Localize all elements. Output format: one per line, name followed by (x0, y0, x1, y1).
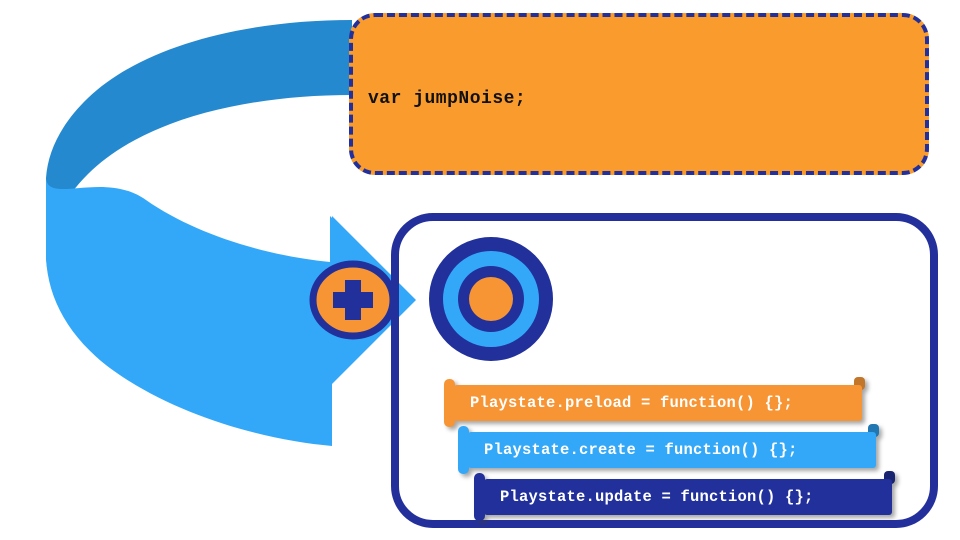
code-banner-update[interactable]: Playstate.update = function() {}; (474, 479, 892, 515)
concentric-target-icon[interactable] (429, 237, 553, 361)
banner-roll-left (474, 473, 485, 521)
plus-badge-icon[interactable] (313, 264, 393, 336)
banner-code-text: Playstate.preload = function() {}; (470, 394, 793, 412)
code-banner-preload[interactable]: Playstate.preload = function() {}; (444, 385, 862, 421)
diagram-canvas: var jumpNoise; Playstate.preload = funct… (0, 0, 960, 540)
banner-code-text: Playstate.create = function() {}; (484, 441, 798, 459)
banner-roll-left (444, 379, 455, 427)
code-banner-create[interactable]: Playstate.create = function() {}; (458, 432, 876, 468)
banner-code-text: Playstate.update = function() {}; (500, 488, 814, 506)
banner-roll-left (458, 426, 469, 474)
